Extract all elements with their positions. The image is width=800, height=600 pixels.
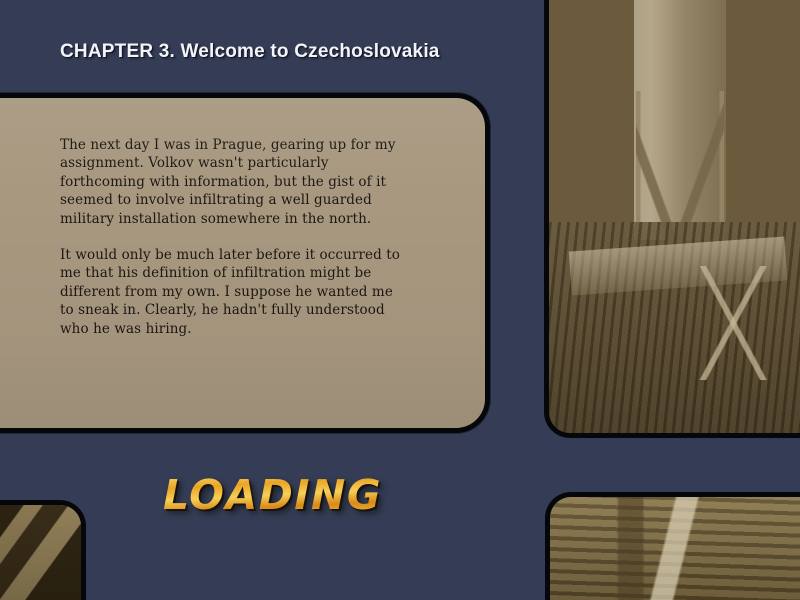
screenshot-panel-bottom-left	[0, 500, 86, 600]
story-text-block: The next day I was in Prague, gearing up…	[60, 136, 405, 338]
screenshot-image-water-tower	[549, 0, 800, 433]
story-panel: The next day I was in Prague, gearing up…	[0, 93, 490, 433]
screenshot-panel-bottom-right	[545, 492, 800, 600]
story-paragraph: The next day I was in Prague, gearing up…	[60, 136, 405, 228]
cross-brace-shape	[683, 266, 786, 380]
loading-screen: CHAPTER 3. Welcome to Czechoslovakia The…	[0, 0, 800, 600]
page-title: CHAPTER 3. Welcome to Czechoslovakia	[60, 41, 440, 63]
screenshot-image-walkway	[550, 497, 800, 600]
story-paragraph: It would only be much later before it oc…	[60, 246, 405, 338]
screenshot-image-wooden-beams	[0, 505, 81, 600]
screenshot-panel-right	[544, 0, 800, 438]
